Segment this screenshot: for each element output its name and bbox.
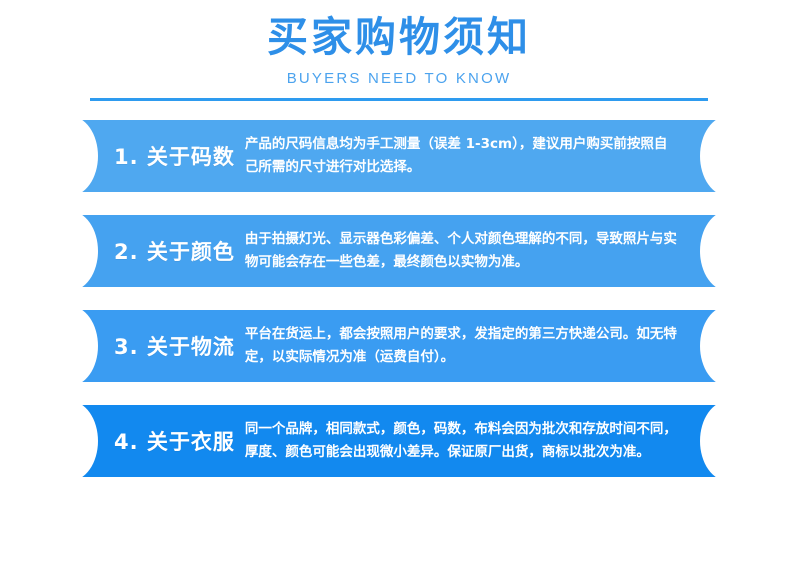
- page-header: 买家购物须知 BUYERS NEED TO KNOW: [0, 0, 798, 101]
- notice-banner-list: 1. 关于码数 产品的尺码信息均为手工测量（误差 1-3cm），建议用户购买前按…: [0, 120, 798, 477]
- header-divider: [90, 98, 708, 101]
- notice-banner: 4. 关于衣服 同一个品牌，相同款式，颜色，码数，布料会因为批次和存放时间不同，…: [62, 405, 736, 477]
- banner-label: 3. 关于物流: [114, 331, 235, 361]
- banner-text: 同一个品牌，相同款式，颜色，码数，布料会因为批次和存放时间不同，厚度、颜色可能会…: [235, 418, 680, 464]
- banner-text: 由于拍摄灯光、显示器色彩偏差、个人对颜色理解的不同，导致照片与实物可能会存在一些…: [235, 228, 680, 274]
- banner-label: 4. 关于衣服: [114, 426, 235, 456]
- notice-banner: 3. 关于物流 平台在货运上，都会按照用户的要求，发指定的第三方快递公司。如无特…: [62, 310, 736, 382]
- notice-banner: 1. 关于码数 产品的尺码信息均为手工测量（误差 1-3cm），建议用户购买前按…: [62, 120, 736, 192]
- page-title: 买家购物须知: [0, 12, 798, 63]
- notice-banner: 2. 关于颜色 由于拍摄灯光、显示器色彩偏差、个人对颜色理解的不同，导致照片与实…: [62, 215, 736, 287]
- page-subtitle: BUYERS NEED TO KNOW: [0, 70, 798, 87]
- banner-label: 1. 关于码数: [114, 141, 235, 171]
- banner-text: 平台在货运上，都会按照用户的要求，发指定的第三方快递公司。如无特定，以实际情况为…: [235, 323, 680, 369]
- banner-label: 2. 关于颜色: [114, 236, 235, 266]
- banner-text: 产品的尺码信息均为手工测量（误差 1-3cm），建议用户购买前按照自己所需的尺寸…: [235, 133, 680, 179]
